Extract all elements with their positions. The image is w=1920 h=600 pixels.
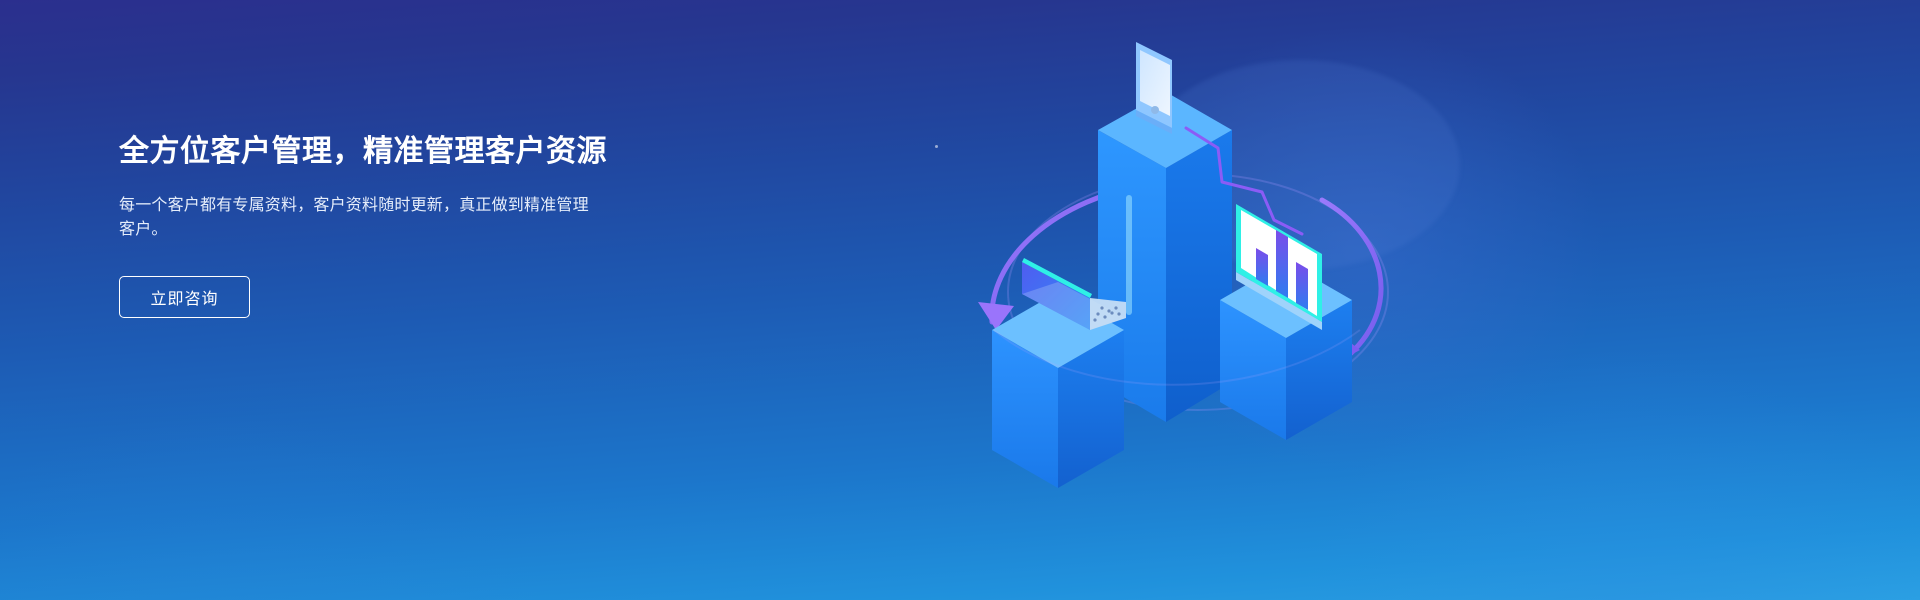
consult-now-button[interactable]: 立即咨询 bbox=[119, 276, 250, 318]
hero-banner: 全方位客户管理，精准管理客户资源 每一个客户都有专属资料，客户资料随时更新，真正… bbox=[0, 0, 1920, 600]
hero-illustration bbox=[930, 30, 1490, 570]
hero-copy: 全方位客户管理，精准管理客户资源 每一个客户都有专属资料，客户资料随时更新，真正… bbox=[119, 132, 739, 318]
background-glow-left bbox=[0, 320, 680, 600]
hero-subtitle: 每一个客户都有专属资料，客户资料随时更新，真正做到精准管理客户。 bbox=[119, 194, 599, 242]
page-title: 全方位客户管理，精准管理客户资源 bbox=[119, 132, 739, 172]
